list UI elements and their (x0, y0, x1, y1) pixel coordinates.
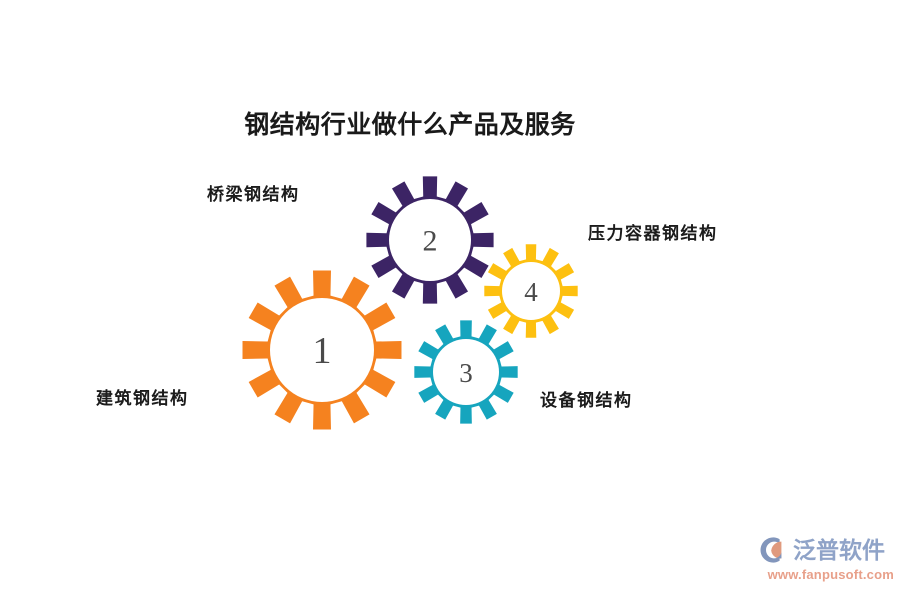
gear-4-number: 4 (524, 277, 538, 307)
gear-3-equipment[interactable]: 3 (414, 320, 517, 423)
callout-label-pressure-vessel: 压力容器钢结构 (588, 219, 718, 244)
gear-2-number: 2 (423, 225, 438, 258)
gear-1-number: 1 (313, 330, 332, 372)
gear-3-number: 3 (459, 358, 473, 388)
infographic-canvas: 钢结构行业做什么产品及服务 4 2 3 (0, 0, 900, 600)
callout-label-building: 建筑钢结构 (96, 384, 189, 409)
gear-diagram: 4 2 3 1 (0, 0, 900, 600)
gear-2-bridge[interactable]: 2 (366, 176, 493, 303)
brand-logo[interactable]: 泛普软件 www.fanpusoft.com (758, 534, 894, 586)
callout-label-equipment: 设备钢结构 (540, 386, 633, 411)
brand-name: 泛普软件 (793, 539, 885, 562)
callout-label-bridge: 桥梁钢结构 (207, 180, 300, 205)
gear-cluster-svg: 4 2 3 1 (0, 0, 900, 600)
fanpu-logo-icon (758, 535, 788, 565)
gear-4-pressure-vessel[interactable]: 4 (484, 244, 577, 337)
brand-url: www.fanpusoft.com (758, 567, 894, 582)
gear-1-building[interactable]: 1 (243, 271, 402, 430)
brand-row: 泛普软件 (758, 534, 894, 566)
